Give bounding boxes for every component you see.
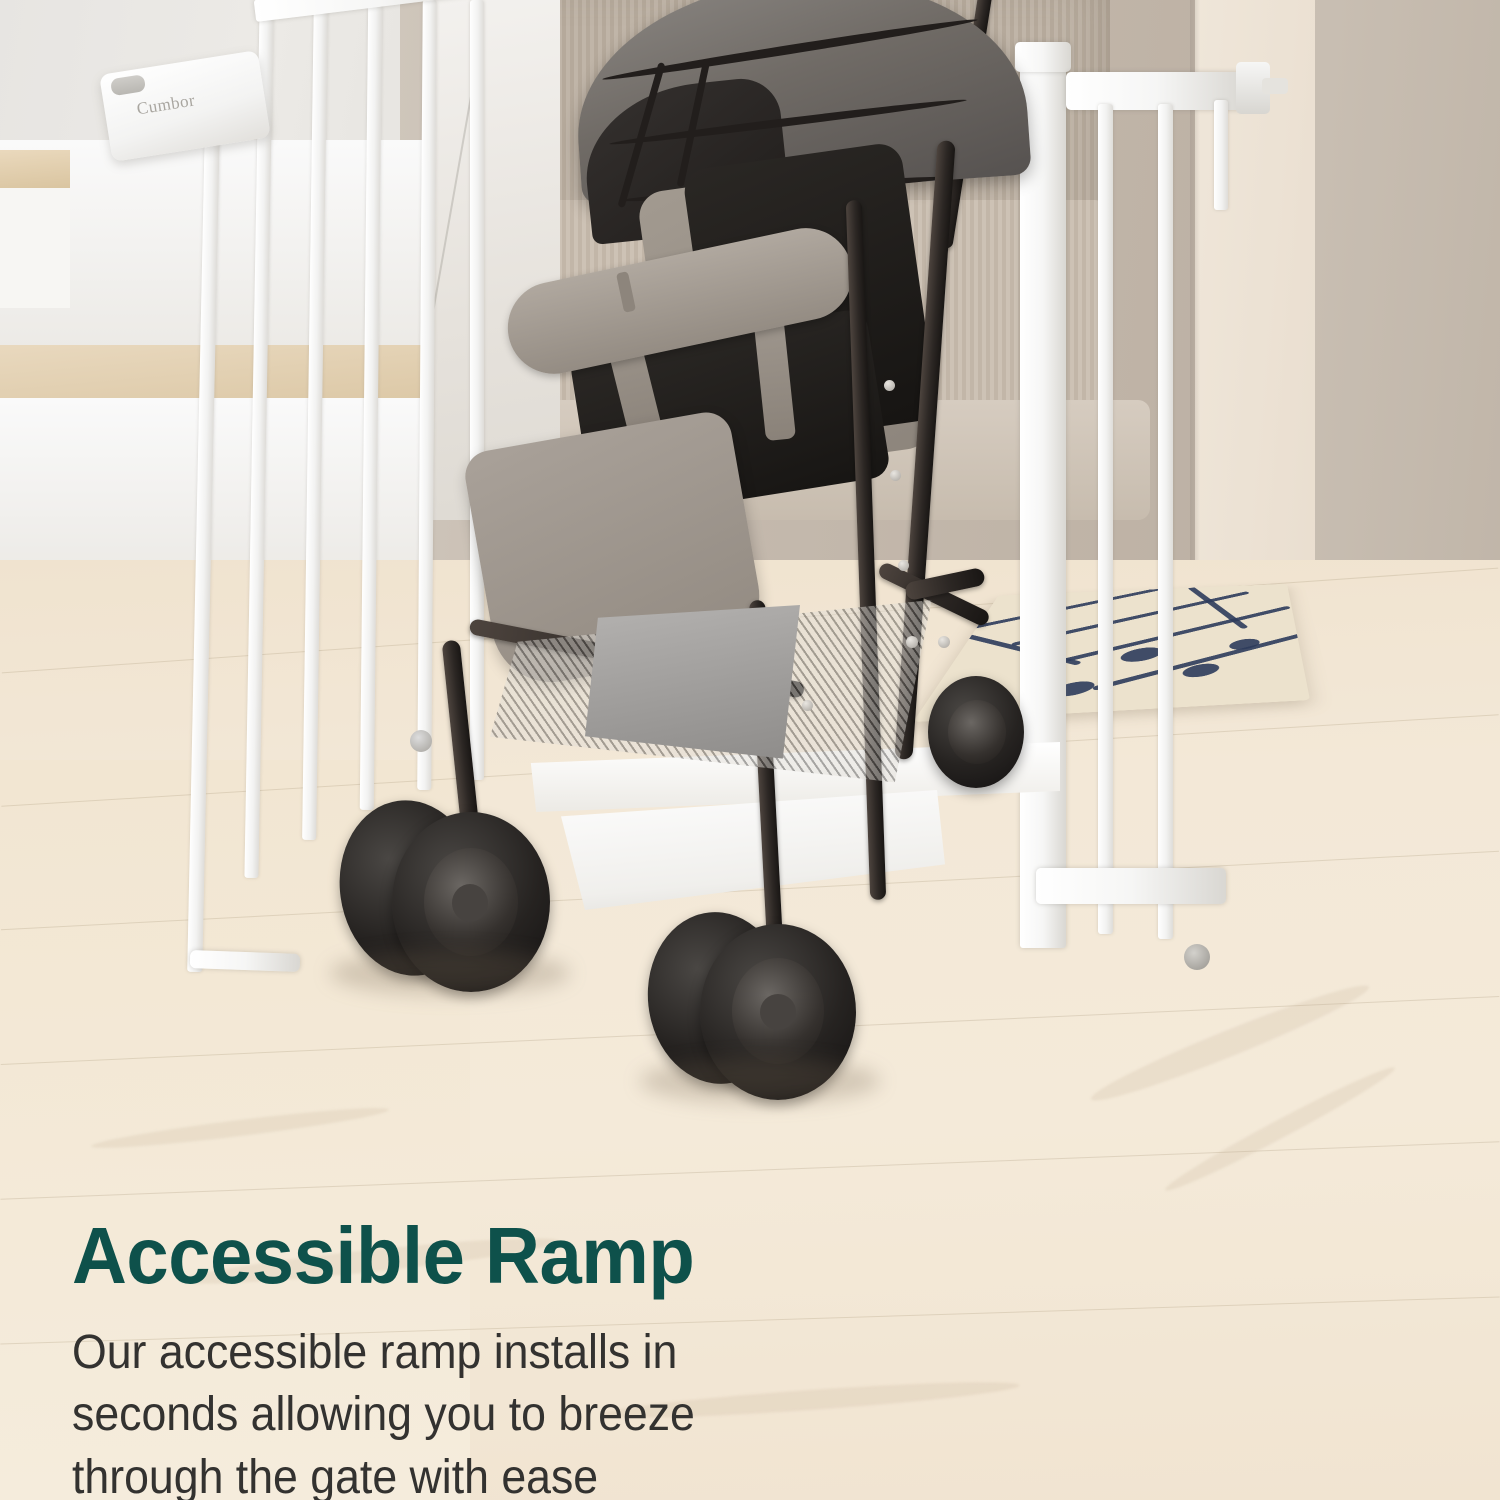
frame-rivet xyxy=(884,380,895,391)
subcopy-line: seconds allowing you to breeze xyxy=(72,1384,890,1446)
subcopy: Our accessible ramp installs in seconds … xyxy=(72,1322,890,1500)
frame-rivet xyxy=(906,636,918,648)
front-wheel-cap xyxy=(452,884,488,922)
frame-rivet xyxy=(890,470,901,481)
product-feature-image: Cumbor xyxy=(0,0,1500,1500)
gate-bar xyxy=(1214,100,1228,210)
subcopy-line: through the gate with ease xyxy=(72,1447,890,1500)
frame-rivet xyxy=(802,700,813,711)
gate-bar xyxy=(1098,104,1113,934)
frame-rivet xyxy=(898,560,909,571)
pressure-bolt-top-stud xyxy=(1262,78,1288,94)
frame-rivet xyxy=(938,636,950,648)
pressure-bolt-bottom[interactable] xyxy=(1184,944,1210,970)
gate-bar xyxy=(1158,104,1173,939)
subcopy-line: Our accessible ramp installs in xyxy=(72,1322,890,1384)
page-title: Accessible Ramp xyxy=(72,1216,908,1296)
baby-stroller xyxy=(0,0,1100,1150)
rear-wheel-cap xyxy=(760,994,796,1030)
marketing-copy: Accessible Ramp Our accessible ramp inst… xyxy=(72,1216,952,1500)
frame-front-leg xyxy=(442,640,481,841)
far-rear-wheel-hub xyxy=(948,700,1006,764)
